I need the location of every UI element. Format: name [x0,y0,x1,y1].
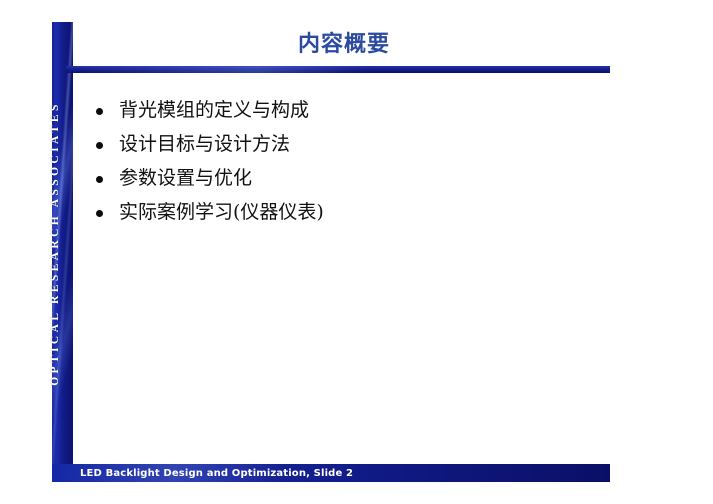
slide-footer: LED Backlight Design and Optimization, S… [52,464,610,482]
bullet-item: 参数设置与优化 [92,165,612,192]
bullet-item: 背光模组的定义与构成 [92,97,612,124]
bullet-item: 实际案例学习(仪器仪表) [92,199,612,226]
slide-canvas: OPTICAL RESEARCH ASSOCIATES 内容概要 背光模组的定义… [0,0,713,504]
brand-sidebar-label: OPTICAL RESEARCH ASSOCIATES [52,22,73,465]
slide-title: 内容概要 [80,29,608,59]
title-divider [66,66,610,73]
bullet-item: 设计目标与设计方法 [92,131,612,158]
footer-label: LED Backlight Design and Optimization, S… [52,468,353,479]
bullet-list: 背光模组的定义与构成 设计目标与设计方法 参数设置与优化 实际案例学习(仪器仪表… [92,97,612,233]
